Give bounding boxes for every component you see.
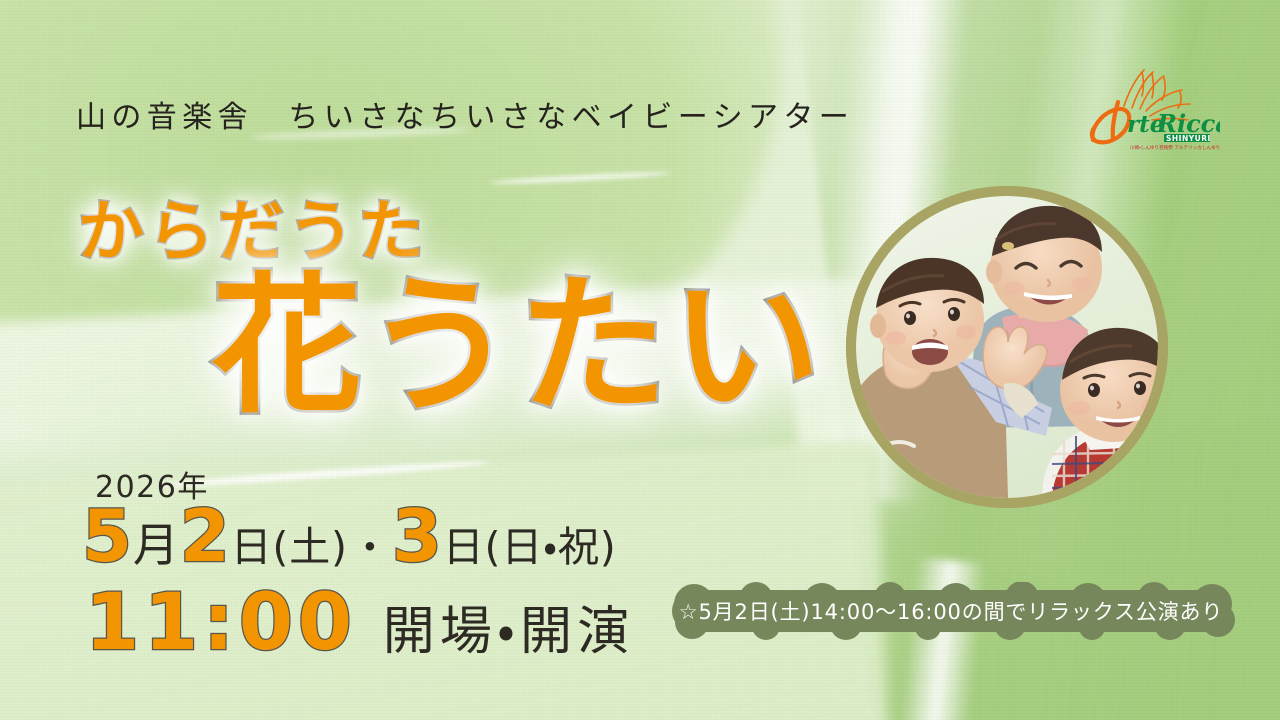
time-minute: 00	[239, 584, 357, 662]
date-day1-weekday: (土)	[272, 527, 347, 568]
date-day2-number: 3	[392, 500, 443, 572]
date-day2-weekday: (日・祝)	[485, 527, 617, 568]
event-time-line: 11 : 00 開場・開演	[85, 584, 634, 662]
relax-performance-banner: ☆5月2日(土)14:00〜16:00の間でリラックス公演あり	[646, 582, 1256, 640]
date-day1-label: 日	[231, 527, 273, 568]
date-separator: ・	[348, 528, 392, 568]
date-day1-number: 2	[180, 500, 231, 572]
baby-photo-circle	[846, 186, 1168, 508]
photo-ring-border	[846, 186, 1168, 508]
svg-text:川崎・しんゆり芸術祭 アルテリッカしんゆり: 川崎・しんゆり芸術祭 アルテリッカしんゆり	[1130, 144, 1220, 151]
event-date-line: 5 月 2 日 (土) ・ 3 日 (日・祝)	[82, 500, 617, 572]
relax-performance-note: ☆5月2日(土)14:00〜16:00の間でリラックス公演あり	[646, 582, 1256, 640]
date-month-label: 月	[133, 522, 180, 568]
date-month-number: 5	[82, 500, 133, 572]
time-colon: :	[203, 584, 239, 662]
date-day2-label: 日	[443, 527, 485, 568]
main-title: 花うたい	[212, 272, 824, 422]
artericca-logo[interactable]: rte Ricca SHINYURI 川崎・しんゆり芸術祭 アルテリッカしんゆり	[1080, 62, 1220, 152]
svg-text:SHINYURI: SHINYURI	[1166, 134, 1211, 143]
event-subtitle: 山の音楽舎 ちいさなちいさなベイビーシアター	[76, 92, 854, 136]
time-hour: 11	[85, 584, 203, 662]
poster-canvas: 山の音楽舎 ちいさなちいさなベイビーシアター	[0, 0, 1280, 720]
time-label: 開場・開演	[383, 606, 635, 658]
